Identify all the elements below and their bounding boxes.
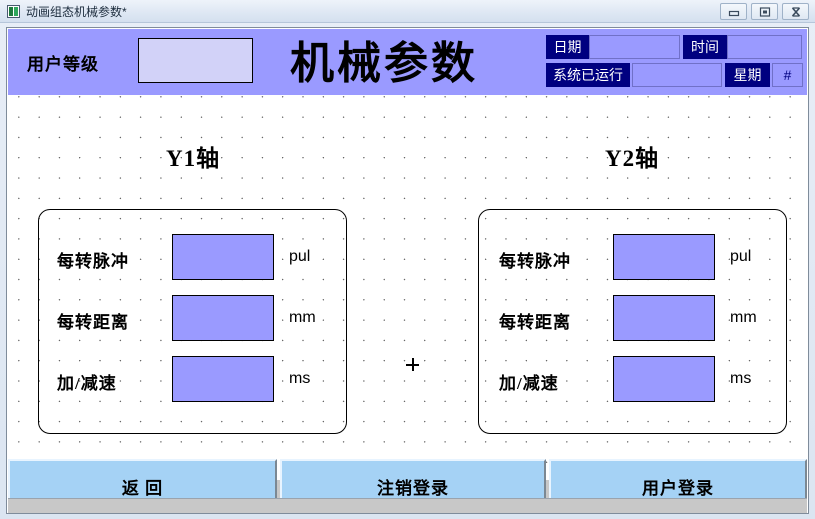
param-unit-y2-pulses: pul (730, 248, 751, 266)
time-label: 时间 (683, 35, 727, 59)
param-unit-y1-accel: ms (289, 370, 310, 388)
weekday-label: 星期 (725, 63, 770, 87)
param-label-y2-accel: 加/减速 (499, 369, 559, 394)
window-controls (720, 3, 809, 20)
title-bar: 动画组态机械参数* (0, 0, 815, 23)
param-row-y1-pulses: 每转脉冲 pul (39, 234, 346, 280)
param-unit-y1-distance: mm (289, 309, 316, 327)
design-canvas: Y1轴 Y2轴 每转脉冲 pul 每转距离 mm 加/减速 ms (8, 95, 807, 480)
param-unit-y2-accel: ms (730, 370, 751, 388)
minimize-button[interactable] (720, 3, 747, 20)
param-unit-y1-pulses: pul (289, 248, 310, 266)
status-bar (8, 498, 807, 514)
param-panel-y1: 每转脉冲 pul 每转距离 mm 加/减速 ms (38, 209, 347, 434)
uptime-label: 系统已运行 (546, 63, 630, 87)
param-input-y2-distance[interactable] (613, 295, 715, 341)
param-label-y1-distance: 每转距离 (57, 308, 129, 333)
header-band: 用户等级 机械参数 日期 时间 系统已运行 星期 # (8, 29, 807, 95)
application-window: 动画组态机械参数* 用户 (0, 0, 815, 519)
page-title: 机械参数 (290, 39, 478, 89)
weekday-value: # (772, 63, 803, 87)
param-panel-y2: 每转脉冲 pul 每转距离 mm 加/减速 ms (478, 209, 787, 434)
status-cluster: 日期 时间 系统已运行 星期 # (546, 33, 804, 91)
crosshair-marker-icon (406, 358, 419, 371)
param-row-y1-accel: 加/减速 ms (39, 356, 346, 402)
param-input-y1-accel[interactable] (172, 356, 274, 402)
maximize-button[interactable] (751, 3, 778, 20)
maximize-icon (758, 6, 771, 18)
date-field (589, 35, 680, 59)
window-title: 动画组态机械参数* (26, 3, 127, 20)
param-label-y2-distance: 每转距离 (499, 308, 571, 333)
param-label-y1-accel: 加/减速 (57, 369, 117, 394)
axis-heading-y2: Y2轴 (605, 139, 659, 173)
close-icon (789, 6, 802, 18)
param-row-y2-accel: 加/减速 ms (479, 356, 786, 402)
param-input-y2-accel[interactable] (613, 356, 715, 402)
client-area: 用户等级 机械参数 日期 时间 系统已运行 星期 # (6, 27, 809, 514)
param-input-y1-pulses[interactable] (172, 234, 274, 280)
param-row-y2-pulses: 每转脉冲 pul (479, 234, 786, 280)
time-field (727, 35, 802, 59)
axis-heading-y1: Y1轴 (166, 139, 220, 173)
param-label-y2-pulses: 每转脉冲 (499, 247, 571, 272)
status-row-date-time: 日期 时间 (546, 35, 802, 59)
param-row-y2-distance: 每转距离 mm (479, 295, 786, 341)
param-row-y1-distance: 每转距离 mm (39, 295, 346, 341)
user-level-label: 用户等级 (27, 50, 99, 75)
param-unit-y2-distance: mm (730, 309, 757, 327)
status-row-uptime-weekday: 系统已运行 星期 # (546, 63, 803, 87)
param-input-y2-pulses[interactable] (613, 234, 715, 280)
date-label: 日期 (546, 35, 589, 59)
param-input-y1-distance[interactable] (172, 295, 274, 341)
minimize-icon (727, 6, 740, 17)
close-button[interactable] (782, 3, 809, 20)
uptime-field (632, 63, 722, 87)
app-icon (7, 5, 20, 18)
param-label-y1-pulses: 每转脉冲 (57, 247, 129, 272)
user-level-display[interactable] (138, 38, 253, 83)
